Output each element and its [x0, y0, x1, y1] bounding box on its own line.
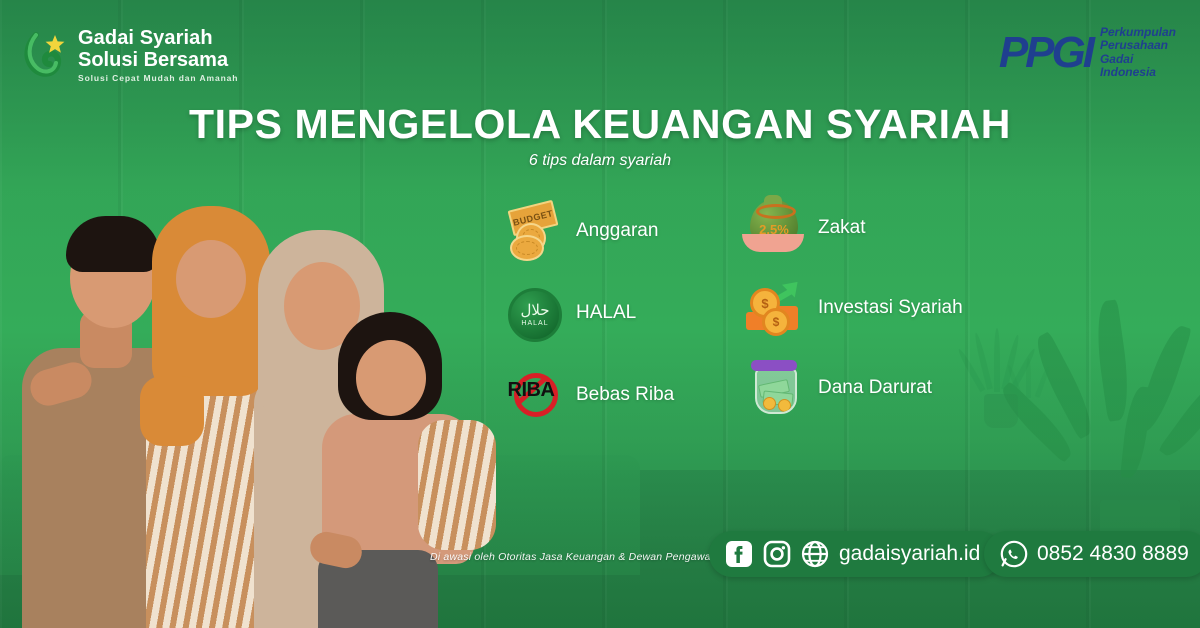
tip-label-halal: HALAL	[576, 302, 636, 324]
ppgi-fullname: Perkumpulan Perusahaan Gadai Indonesia	[1100, 26, 1176, 80]
whatsapp-icon[interactable]	[1000, 540, 1028, 568]
brand-logo-line2: Solusi Bersama	[78, 50, 238, 70]
tips-column-right: 2,5% Zakat $ $ Investasi Syariah	[742, 200, 963, 416]
tips-column-left: BUDGET Anggaran حلال HALAL HALAL	[500, 203, 674, 423]
page-subtitle: 6 tips dalam syariah	[0, 152, 1200, 170]
money-bag-hands-icon: 2,5%	[742, 200, 804, 256]
brand-logo[interactable]: Gadai Syariah Solusi Bersama Solusi Cepa…	[22, 28, 238, 83]
brand-tagline: Solusi Cepat Mudah dan Amanah	[78, 74, 238, 83]
tip-item-bebas-riba: RIBA Bebas Riba	[500, 367, 674, 423]
jar-coin-2	[778, 399, 791, 412]
ppgi-line3: Gadai	[1100, 53, 1176, 66]
coin-bottom	[510, 235, 544, 261]
globe-icon[interactable]	[801, 540, 829, 568]
brand-logo-line1: Gadai Syariah	[78, 28, 238, 48]
tip-label-dana-darurat: Dana Darurat	[818, 377, 932, 399]
savings-jar-icon	[742, 360, 804, 416]
jar-body	[755, 368, 797, 414]
tip-label-anggaran: Anggaran	[576, 220, 658, 242]
halal-certification-icon: حلال HALAL	[500, 285, 562, 341]
daughter2-face	[356, 340, 426, 416]
website-url: gadaisyariah.id	[839, 542, 980, 566]
father-hair	[66, 216, 160, 272]
ppgi-line2: Perusahaan	[1100, 39, 1176, 52]
tip-item-dana-darurat: Dana Darurat	[742, 360, 963, 416]
ppgi-line1: Perkumpulan	[1100, 26, 1176, 39]
budget-tag-coins-icon: BUDGET	[500, 203, 562, 259]
daughter1-face	[176, 240, 246, 318]
instagram-icon[interactable]	[763, 540, 791, 568]
riba-word: RIBA	[500, 379, 562, 402]
halal-badge: حلال HALAL	[508, 288, 562, 342]
coin-dollar-bottom: $	[762, 308, 790, 336]
halal-latin-text: HALAL	[521, 320, 548, 327]
tip-item-zakat: 2,5% Zakat	[742, 200, 963, 256]
riba-prohibited-icon: RIBA	[500, 367, 562, 423]
jar-lid	[751, 360, 797, 371]
arabic-calligraphy-star-icon	[22, 29, 68, 81]
promotional-banner: Gadai Syariah Solusi Bersama Solusi Cepa…	[0, 0, 1200, 628]
ppgi-line4: Indonesia	[1100, 66, 1176, 79]
tip-label-zakat: Zakat	[818, 217, 866, 239]
daughter2-sleeve	[418, 420, 496, 550]
page-title: TIPS MENGELOLA KEUANGAN SYARIAH	[0, 101, 1200, 148]
ppgi-acronym: PPGI	[999, 31, 1092, 75]
website-contact-pill[interactable]: gadaisyariah.id	[709, 531, 1002, 577]
coins-growth-arrow-icon: $ $	[742, 280, 804, 336]
facebook-icon[interactable]	[725, 540, 753, 568]
halal-arabic-text: حلال	[520, 303, 549, 318]
tip-label-investasi: Investasi Syariah	[818, 297, 963, 319]
phone-number: 0852 4830 8889	[1037, 542, 1189, 566]
money-bag-tie	[756, 204, 796, 219]
jar-coin-1	[763, 397, 776, 410]
tip-label-bebas-riba: Bebas Riba	[576, 384, 674, 406]
regulatory-disclaimer: Di awasi oleh Otoritas Jasa Keuangan & D…	[430, 551, 756, 563]
partner-logo-ppgi[interactable]: PPGI Perkumpulan Perusahaan Gadai Indone…	[999, 26, 1176, 80]
hands-holding	[742, 234, 804, 252]
daughter1-sleeve	[140, 376, 204, 446]
tip-item-halal: حلال HALAL HALAL	[500, 285, 674, 341]
tip-item-anggaran: BUDGET Anggaran	[500, 203, 674, 259]
whatsapp-contact-pill[interactable]: 0852 4830 8889	[984, 531, 1200, 577]
tip-item-investasi: $ $ Investasi Syariah	[742, 280, 963, 336]
riba-sign: RIBA	[500, 373, 562, 413]
